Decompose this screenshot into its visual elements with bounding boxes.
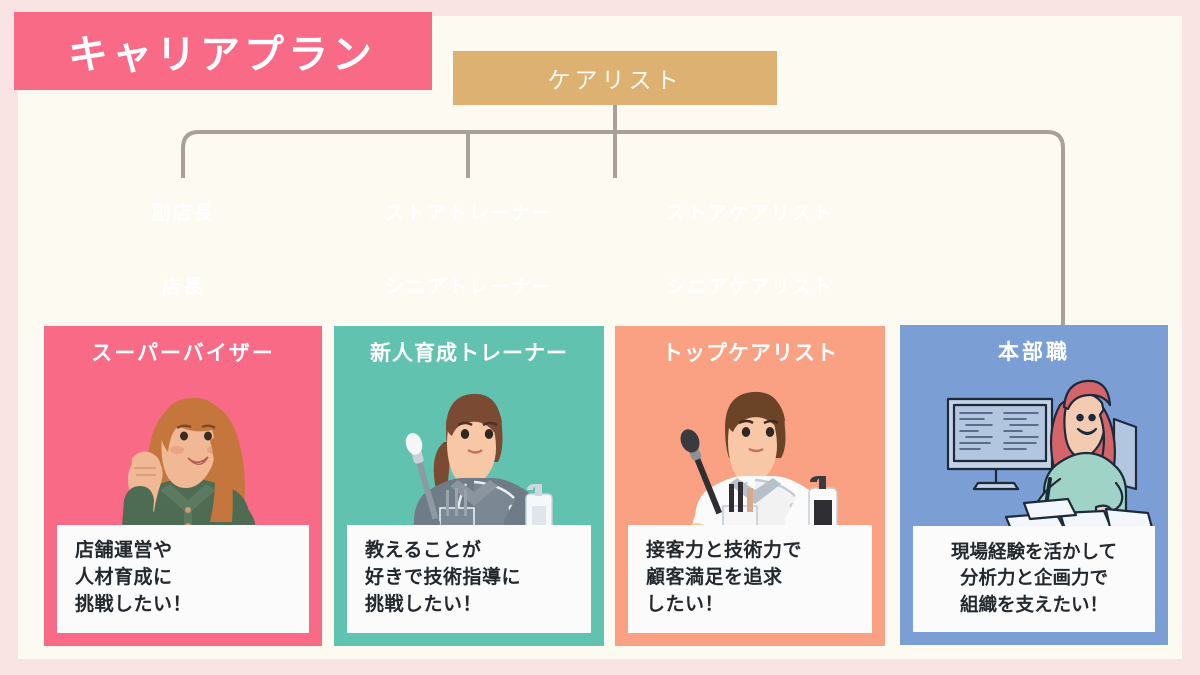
- rank-label: ストアトレーナー: [385, 198, 553, 225]
- caption-text: 教えることが 好きで技術指導に 挑戦したい！: [365, 538, 577, 619]
- rank-label: 店長: [162, 272, 204, 299]
- highlight-card-caption: 教えることが 好きで技術指導に 挑戦したい！: [347, 525, 591, 633]
- highlight-card-caption: 接客力と技術力で 顧客満足を追求 したい！: [628, 525, 872, 633]
- highlight-card-headquarters: 本部職: [900, 325, 1168, 645]
- highlight-card-supervisor: スーパーバイザー: [44, 326, 322, 646]
- page-title-text: キャリアプラン: [14, 22, 376, 80]
- rank-box-store-manager: 店長: [44, 252, 322, 319]
- career-column-carelist: ストアケアリスト シニアケアリスト トップケアリスト: [615, 178, 885, 646]
- career-column-store-management: 副店長 店長 スーパーバイザー: [44, 178, 322, 646]
- highlight-card-top-carelist: トップケアリスト: [615, 326, 885, 646]
- rank-label: ストアケアリスト: [666, 198, 834, 225]
- caption-text: 店舗運営や 人材育成に 挑戦したい！: [75, 538, 295, 619]
- career-column-trainer: ストアトレーナー シニアトレーナー 新人育成トレーナー: [334, 178, 604, 646]
- caption-text: 現場経験を活かして 分析力と企画力で 組織を支えたい！: [923, 539, 1145, 618]
- career-plan-diagram: キャリアプラン ケアリスト 副店長 店長 スーパーバイザー: [0, 0, 1200, 675]
- career-column-headquarters: 本部職: [900, 325, 1168, 645]
- root-node-carelist: ケアリスト: [453, 51, 777, 105]
- highlight-card-caption: 店舗運営や 人材育成に 挑戦したい！: [57, 525, 309, 633]
- rank-box-store-trainer: ストアトレーナー: [334, 178, 604, 245]
- highlight-card-title: スーパーバイザー: [44, 326, 322, 364]
- highlight-card-title: 本部職: [900, 325, 1168, 363]
- rank-box-store-carelist: ストアケアリスト: [615, 178, 885, 245]
- rank-label: シニアケアリスト: [666, 272, 834, 299]
- rank-label: 副店長: [151, 198, 214, 225]
- root-node-label: ケアリスト: [548, 61, 683, 95]
- highlight-card-caption: 現場経験を活かして 分析力と企画力で 組織を支えたい！: [913, 526, 1155, 632]
- rank-box-senior-carelist: シニアケアリスト: [615, 252, 885, 319]
- caption-text: 接客力と技術力で 顧客満足を追求 したい！: [646, 538, 858, 619]
- page-title: キャリアプラン: [14, 12, 432, 90]
- highlight-card-newcomer-trainer: 新人育成トレーナー: [334, 326, 604, 646]
- rank-box-deputy-manager: 副店長: [44, 178, 322, 245]
- highlight-card-title: 新人育成トレーナー: [334, 326, 604, 364]
- rank-box-senior-trainer: シニアトレーナー: [334, 252, 604, 319]
- rank-label: シニアトレーナー: [385, 272, 553, 299]
- illustration-woman-at-desk: [900, 371, 1168, 551]
- highlight-card-title: トップケアリスト: [615, 326, 885, 364]
